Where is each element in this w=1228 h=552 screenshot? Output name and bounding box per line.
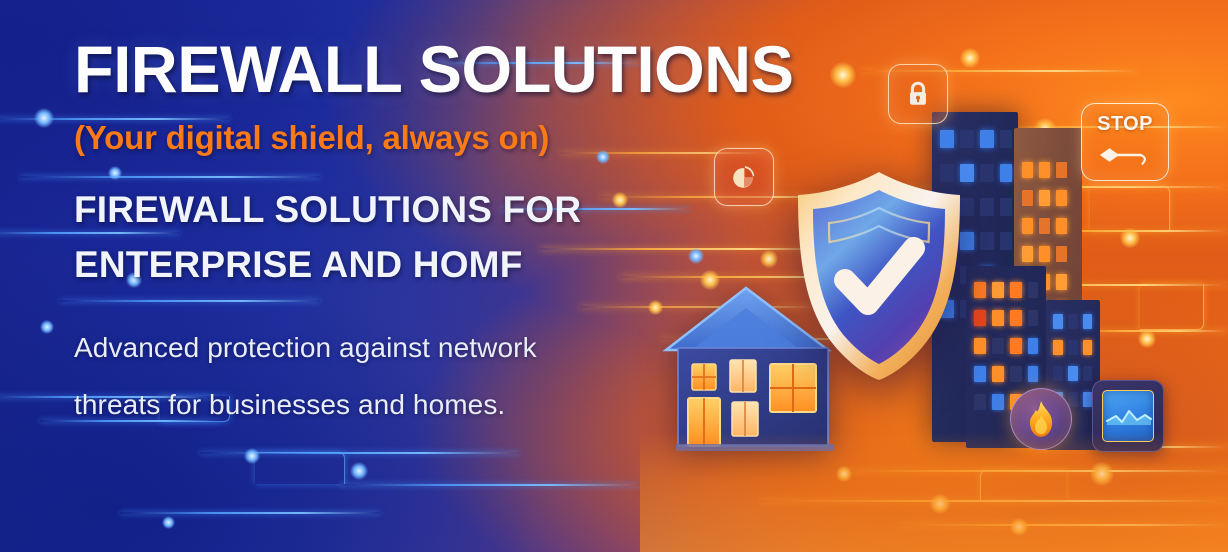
padlock-icon: [903, 79, 933, 109]
banner-copy: FIREWALL SOLUTIONS (Your digital shield,…: [74, 36, 694, 433]
page-title: FIREWALL SOLUTIONS: [74, 36, 685, 102]
left-arrow-icon: [1096, 144, 1154, 166]
padlock-icon-card[interactable]: [888, 64, 948, 124]
subheading-line-1: FIREWALL SOLUTIONS FOR: [74, 189, 581, 230]
stop-sign-label: STOP: [1082, 113, 1168, 136]
tagline: (Your digital shield, always on): [74, 121, 694, 154]
pie-chart-icon: [729, 162, 759, 192]
ground-glow: [640, 432, 1228, 552]
firewall-solutions-banner: FIREWALL SOLUTIONS (Your digital shield,…: [0, 0, 1228, 552]
body-line-1: Advanced protection against network: [74, 332, 537, 363]
body-text: Advanced protection against network thre…: [74, 319, 694, 434]
subheading-line-2: ENTERPRISE AND HOMF: [74, 238, 694, 293]
pie-chart-icon-card[interactable]: [714, 148, 774, 206]
shield-check-icon: [788, 168, 970, 384]
stop-sign-icon-card[interactable]: STOP: [1081, 103, 1169, 181]
subheading: FIREWALL SOLUTIONS FOR ENTERPRISE AND HO…: [74, 183, 694, 293]
body-line-2: threats for businesses and homes.: [74, 376, 694, 433]
